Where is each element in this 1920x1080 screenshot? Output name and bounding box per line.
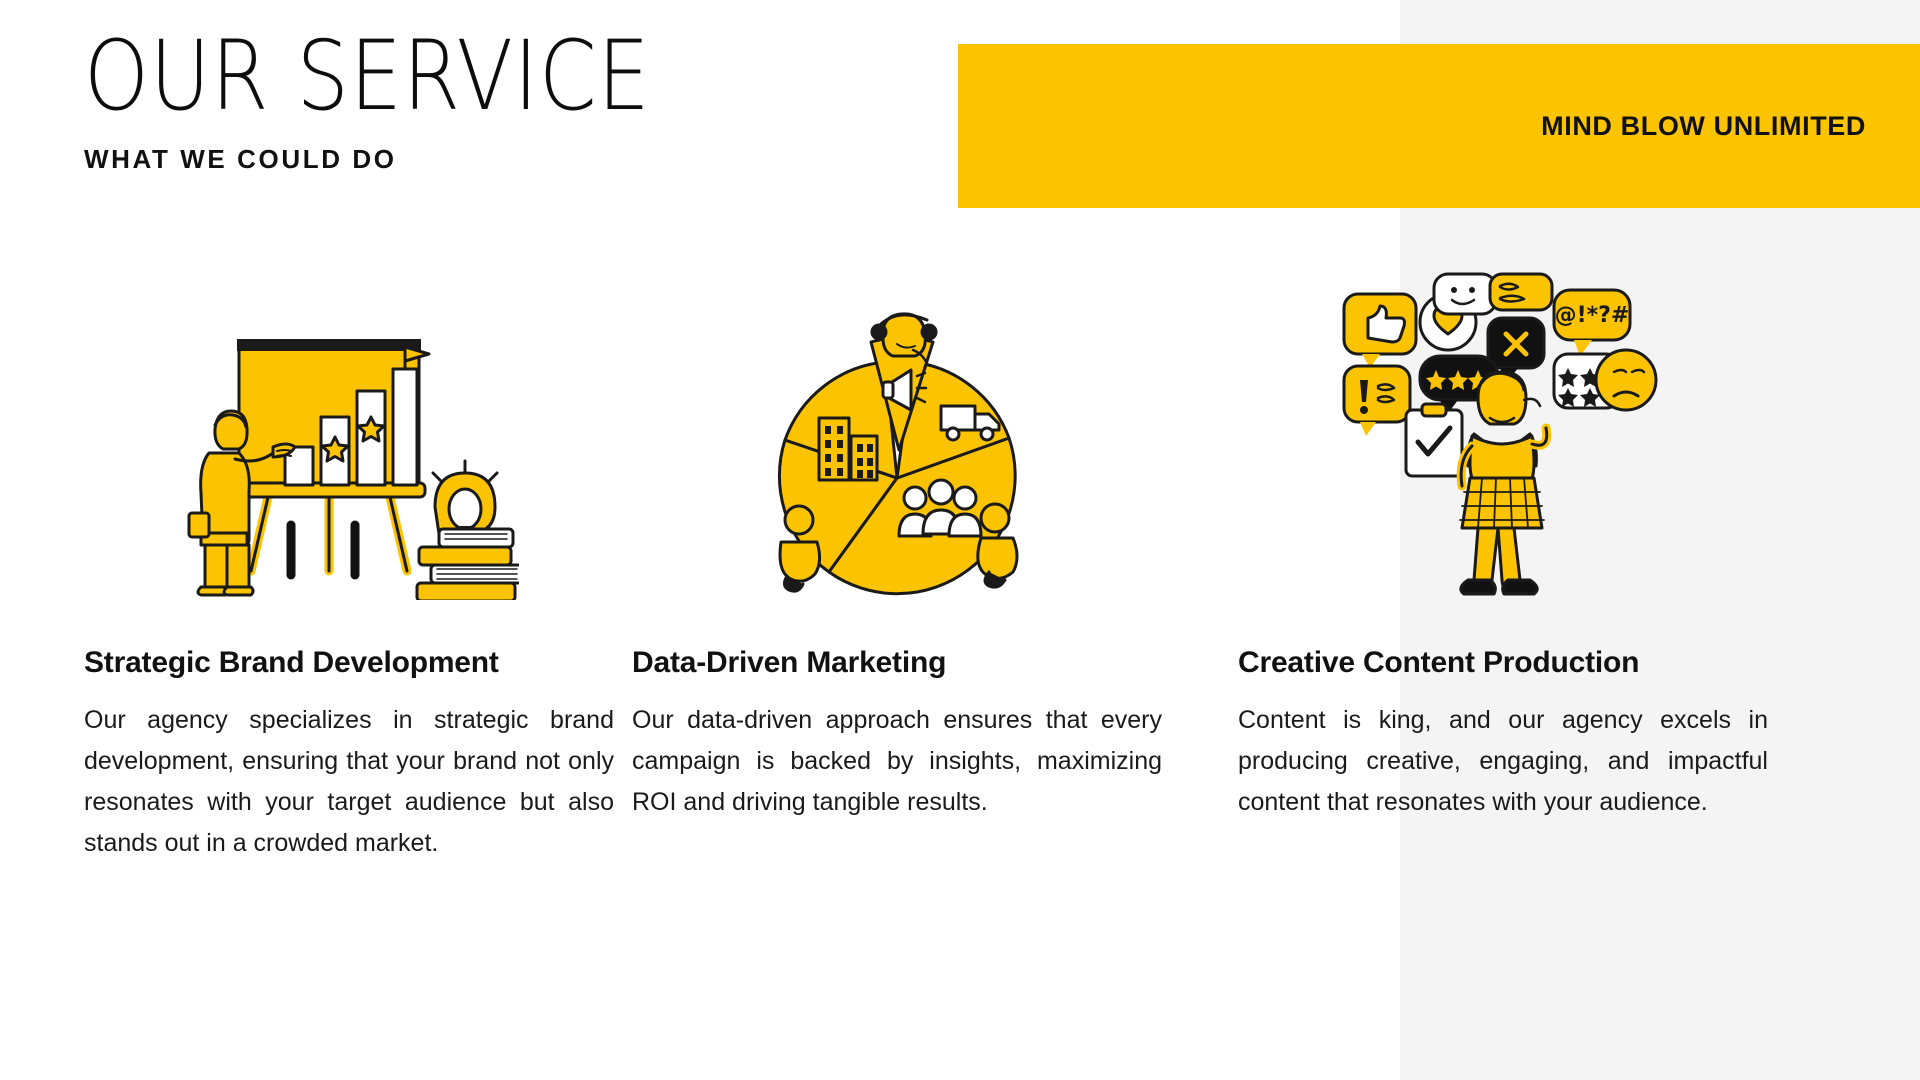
title-block: OUR SERVICE WHAT WE COULD DO (84, 28, 743, 175)
service-card-3: @!*?# (1238, 280, 1768, 1040)
service-card-2: Data-Driven Marketing Our data-driven ap… (632, 280, 1162, 1040)
services-row: Strategic Brand Development Our agency s… (0, 280, 1920, 1040)
service-body: Our data-driven approach ensures that ev… (632, 700, 1162, 823)
service-card-1: Strategic Brand Development Our agency s… (84, 280, 614, 1040)
presentation-bar-chart-icon (84, 280, 614, 600)
brand-tagline: MIND BLOW UNLIMITED (1541, 111, 1866, 142)
service-body: Our agency specializes in strategic bran… (84, 700, 614, 864)
service-title: Strategic Brand Development (84, 646, 614, 680)
header-accent-band: MIND BLOW UNLIMITED (958, 44, 1920, 208)
pie-chart-data-icon (632, 280, 1162, 600)
service-title: Creative Content Production (1238, 646, 1768, 680)
service-body: Content is king, and our agency excels i… (1238, 700, 1768, 823)
page-title: OUR SERVICE (84, 28, 651, 124)
page-subtitle: WHAT WE COULD DO (84, 144, 743, 175)
service-title: Data-Driven Marketing (632, 646, 1162, 680)
social-feedback-bubbles-icon: @!*?# (1238, 280, 1768, 600)
svg-text:@!*?#: @!*?# (1555, 303, 1630, 328)
